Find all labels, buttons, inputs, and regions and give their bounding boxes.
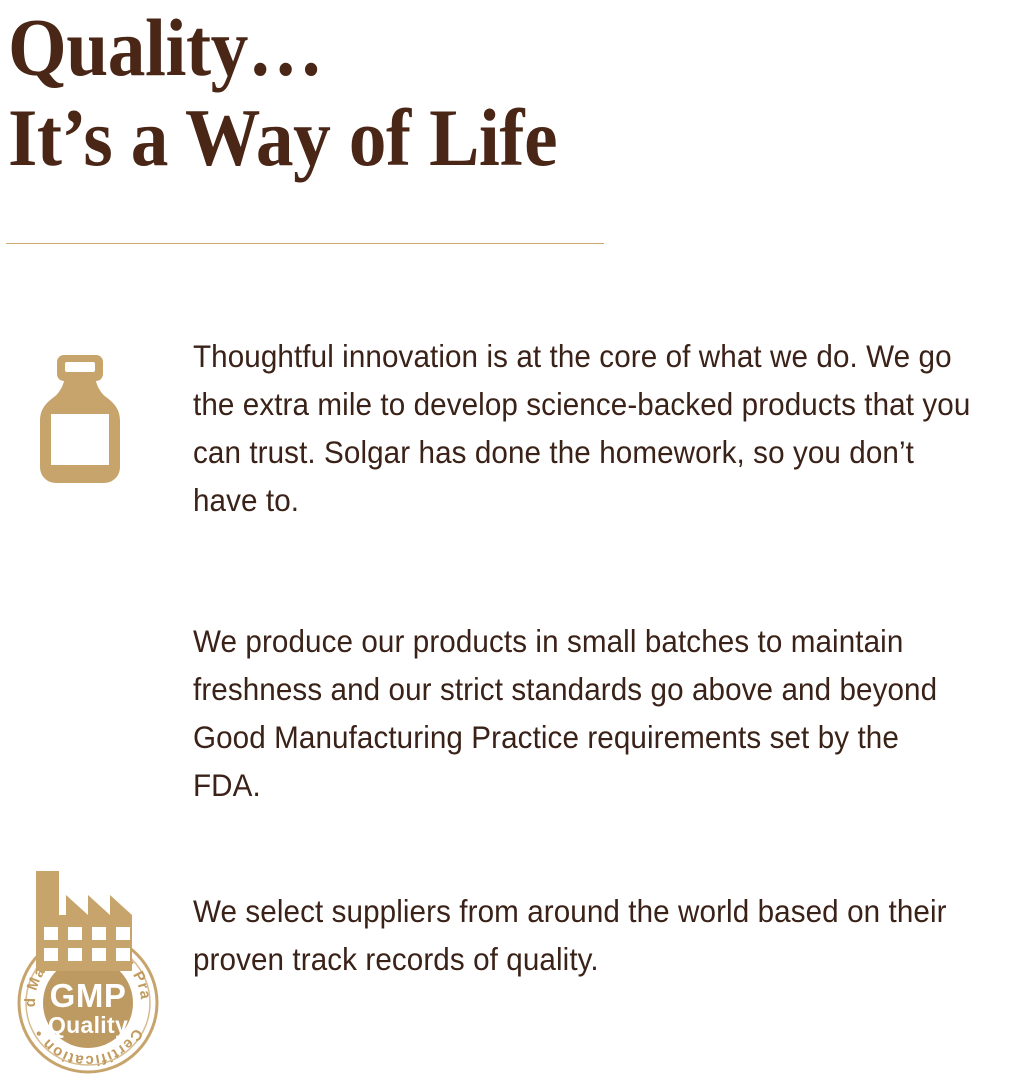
headline-line-2: It’s a Way of Life (8, 90, 891, 186)
feature-text-cell: We select suppliers from around the worl… (193, 855, 1024, 1014)
svg-text:Quality: Quality (48, 1012, 128, 1038)
quality-page: Quality… It’s a Way of Life (0, 0, 1024, 1001)
factory-icon (28, 871, 138, 971)
headline-line-1: Quality… (8, 2, 891, 94)
feature-list: Thoughtful innovation is at the core of … (0, 300, 1024, 1001)
feature-row: Good Manufacturing Practice Certificatio… (0, 585, 1024, 855)
feature-text: Thoughtful innovation is at the core of … (193, 332, 970, 524)
feature-text: We produce our products in small batches… (193, 617, 970, 809)
supplement-bottle-icon (38, 355, 122, 485)
feature-text: We select suppliers from around the worl… (193, 887, 970, 983)
feature-row: Thoughtful innovation is at the core of … (0, 300, 1024, 585)
header-divider (6, 243, 604, 244)
feature-text-cell: We produce our products in small batches… (193, 585, 1024, 840)
feature-row: We select suppliers from around the worl… (0, 855, 1024, 1001)
feature-text-cell: Thoughtful innovation is at the core of … (193, 300, 1024, 555)
page-title: Quality… It’s a Way of Life (8, 2, 968, 186)
